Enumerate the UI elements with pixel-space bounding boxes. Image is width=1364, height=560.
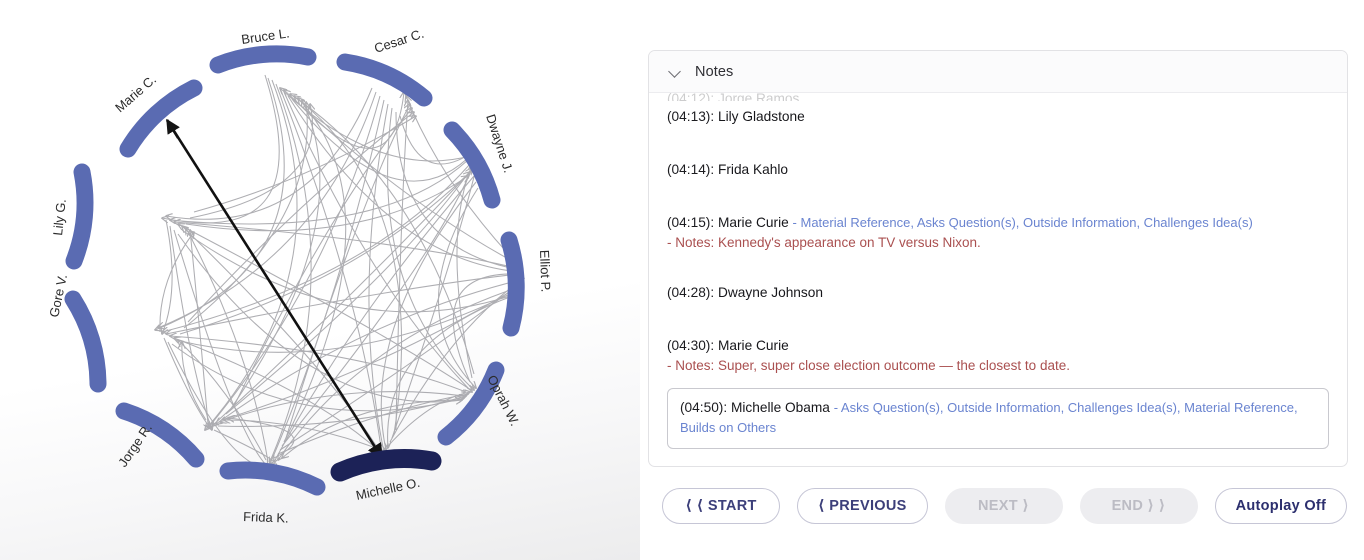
app-root: Bruce L. Cesar C. Dwayne J. Elliot P. Op… <box>0 0 1364 560</box>
end-button: END ⟩ ⟩ <box>1080 488 1198 524</box>
arc-label-elliot: Elliot P. <box>537 250 553 293</box>
note-time: (04:13): <box>667 109 714 124</box>
note-time: (04:14): <box>667 162 714 177</box>
arc-label-cesar: Cesar C. <box>372 26 425 56</box>
list-item[interactable]: (04:15): Marie Curie - Material Referenc… <box>667 207 1329 259</box>
list-item[interactable]: (04:12): Jorge Ramos <box>667 93 1329 101</box>
arc-gore <box>73 299 98 384</box>
network-diagram-pane: Bruce L. Cesar C. Dwayne J. Elliot P. Op… <box>0 0 640 560</box>
notes-scroll-area[interactable]: (04:12): Jorge Ramos (04:13): Lily Glads… <box>649 93 1347 466</box>
note-detail: - Notes: Kennedy's appearance on TV vers… <box>667 233 1329 253</box>
arc-dwayne <box>452 130 492 200</box>
chevron-down-icon[interactable] <box>669 65 682 78</box>
note-speaker: Marie Curie <box>718 215 789 230</box>
note-speaker: Michelle Obama <box>731 400 830 415</box>
arc-frida <box>228 470 317 487</box>
note-detail: - Notes: Super, super close election out… <box>667 356 1329 376</box>
arc-elliot <box>509 240 516 328</box>
note-speaker: Jorge Ramos <box>718 93 799 101</box>
playback-controls: ⟨ ⟨ START ⟨ PREVIOUS NEXT ⟩ END ⟩ ⟩ Auto… <box>648 488 1348 524</box>
notes-card: Notes (04:12): Jorge Ramos (04:13): Lily… <box>648 50 1348 467</box>
note-time: (04:30): <box>667 338 714 353</box>
note-speaker: Dwayne Johnson <box>718 285 823 300</box>
note-speaker: Marie Curie <box>718 338 789 353</box>
arc-label-michelle: Michelle O. <box>355 475 422 503</box>
note-speaker: Frida Kahlo <box>718 162 788 177</box>
note-time: (04:28): <box>667 285 714 300</box>
arc-michelle <box>340 459 432 472</box>
autoplay-toggle-button[interactable]: Autoplay Off <box>1215 488 1348 524</box>
previous-button[interactable]: ⟨ PREVIOUS <box>797 488 928 524</box>
list-item[interactable]: (04:14): Frida Kahlo <box>667 154 1329 186</box>
note-speaker: Lily Gladstone <box>718 109 805 124</box>
arc-label-frida: Frida K. <box>243 509 289 526</box>
arc-label-bruce: Bruce L. <box>240 25 290 47</box>
list-item[interactable]: (04:13): Lily Gladstone <box>667 101 1329 133</box>
network-edge-highlighted <box>167 120 382 458</box>
notes-header[interactable]: Notes <box>649 51 1347 93</box>
start-button[interactable]: ⟨ ⟨ START <box>662 488 780 524</box>
notes-panel-title: Notes <box>695 64 733 80</box>
note-time: (04:15): <box>667 215 714 230</box>
arc-label-lily: Lily G. <box>50 198 69 236</box>
arc-bruce <box>218 54 308 65</box>
notes-pane: Notes (04:12): Jorge Ramos (04:13): Lily… <box>640 0 1364 560</box>
arc-cesar <box>345 62 424 98</box>
list-item[interactable]: (04:30): Marie Curie - Notes: Super, sup… <box>667 330 1329 382</box>
list-item-selected[interactable]: (04:50): Michelle Obama - Asks Question(… <box>667 388 1329 449</box>
arc-lily <box>74 172 85 261</box>
arc-label-dwayne: Dwayne J. <box>483 112 516 174</box>
list-item[interactable]: (04:28): Dwayne Johnson <box>667 277 1329 309</box>
arc-label-jorge: Jorge R. <box>115 421 155 470</box>
network-diagram-svg[interactable]: Bruce L. Cesar C. Dwayne J. Elliot P. Op… <box>0 0 640 560</box>
network-arcs[interactable] <box>73 54 516 487</box>
note-tags: - Material Reference, Asks Question(s), … <box>793 215 1253 230</box>
next-button: NEXT ⟩ <box>945 488 1063 524</box>
note-time: (04:50): <box>680 400 727 415</box>
note-time: (04:12): <box>667 93 714 101</box>
